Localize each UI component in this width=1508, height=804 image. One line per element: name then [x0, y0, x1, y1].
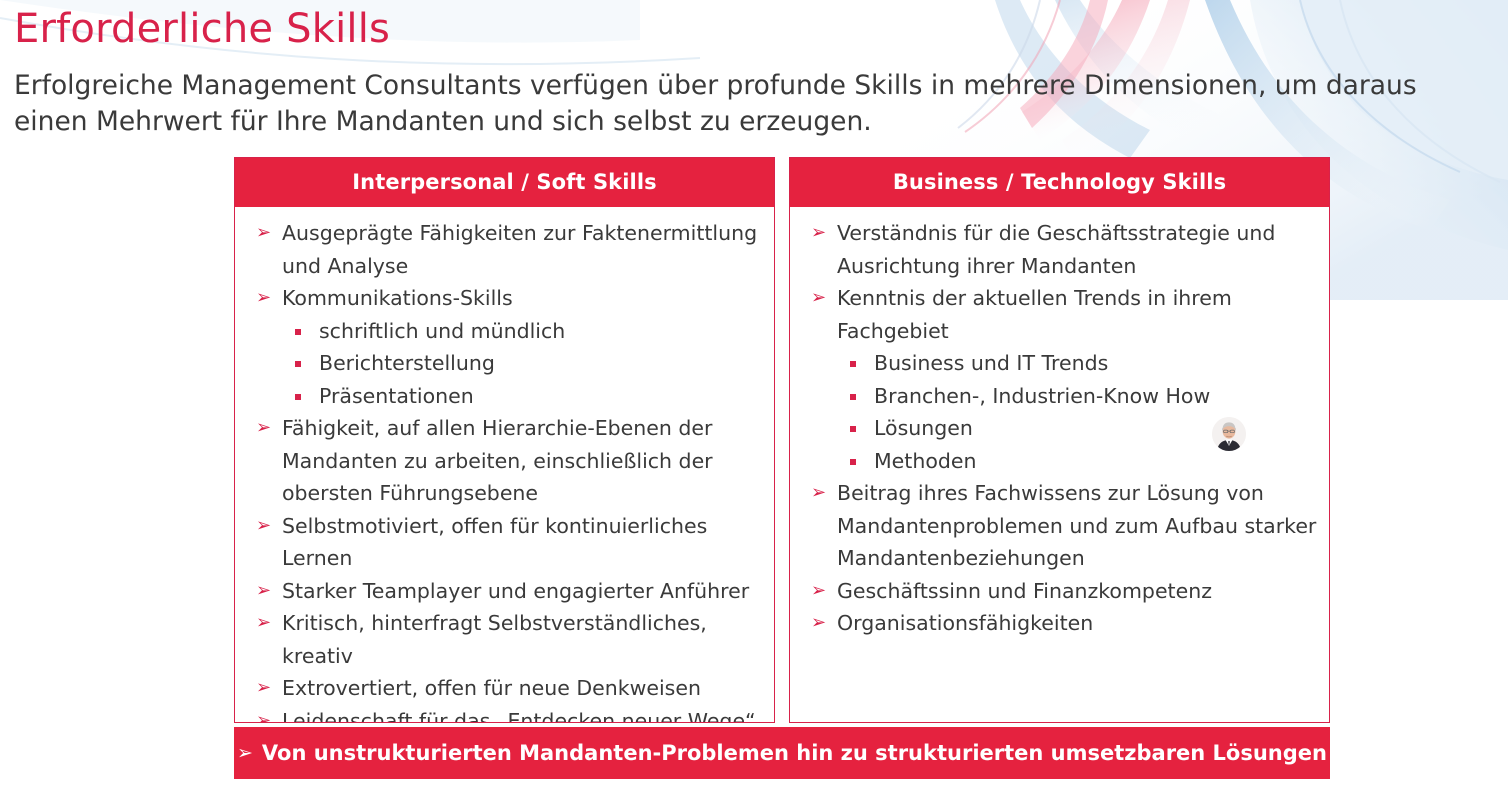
square-bullet-icon: [850, 394, 856, 400]
panel-business-technology-skills: Business / Technology Skills ➢Verständni…: [789, 157, 1330, 723]
page-title: Erforderliche Skills: [14, 6, 390, 52]
list-item: ➢Kritisch, hinterfragt Selbstverständlic…: [247, 607, 762, 672]
list-item-label: Lösungen: [874, 416, 973, 440]
panel-body-soft-skills: ➢Ausgeprägte Fähigkeiten zur Faktenermit…: [235, 207, 774, 722]
list-item-label: Kommunikations-Skills: [282, 286, 513, 310]
list-item: Business und IT Trends: [802, 347, 1317, 380]
list-item: ➢Kenntnis der aktuellen Trends in ihrem …: [802, 282, 1317, 347]
list-item-label: Kenntnis der aktuellen Trends in ihrem F…: [837, 286, 1232, 343]
list-item-label: Geschäftssinn und Finanzkompetenz: [837, 579, 1212, 603]
list-item: ➢Kommunikations-Skills: [247, 282, 762, 315]
arrow-bullet-icon: ➢: [256, 607, 271, 640]
list-item-label: Leidenschaft für das „Entdecken neuer We…: [282, 709, 756, 723]
list-item: Berichterstellung: [247, 347, 762, 380]
list-item: ➢Beitrag ihres Fachwissens zur Lösung vo…: [802, 477, 1317, 575]
arrow-bullet-icon: ➢: [256, 217, 271, 250]
list-item: Branchen-, Industrien-Know How: [802, 380, 1317, 413]
skills-panels: Interpersonal / Soft Skills ➢Ausgeprägte…: [234, 157, 1330, 723]
list-item: ➢Starker Teamplayer und engagierter Anfü…: [247, 575, 762, 608]
panel-header-business-technology-skills: Business / Technology Skills: [790, 158, 1329, 207]
arrow-bullet-icon: ➢: [256, 510, 271, 543]
arrow-bullet-icon: ➢: [256, 705, 271, 723]
panel-header-soft-skills: Interpersonal / Soft Skills: [235, 158, 774, 207]
list-item-label: Starker Teamplayer und engagierter Anfüh…: [282, 579, 749, 603]
arrow-bullet-icon: ➢: [256, 672, 271, 705]
list-item: ➢Geschäftssinn und Finanzkompetenz: [802, 575, 1317, 608]
list-item-label: Ausgeprägte Fähigkeiten zur Faktenermitt…: [282, 221, 757, 278]
arrow-bullet-icon: ➢: [811, 282, 826, 315]
arrow-bullet-icon: ➢: [256, 575, 271, 608]
list-item: Präsentationen: [247, 380, 762, 413]
square-bullet-icon: [295, 361, 301, 367]
list-item-label: Methoden: [874, 449, 977, 473]
bottom-banner-text: Von unstrukturierten Mandanten-Problemen…: [262, 741, 1327, 765]
bottom-banner: ➢ Von unstrukturierten Mandanten-Problem…: [234, 727, 1330, 779]
square-bullet-icon: [850, 459, 856, 465]
list-item-label: Berichterstellung: [319, 351, 495, 375]
square-bullet-icon: [850, 426, 856, 432]
soft-skills-list: ➢Ausgeprägte Fähigkeiten zur Faktenermit…: [247, 217, 762, 722]
arrow-bullet-icon: ➢: [256, 412, 271, 445]
list-item: ➢Extrovertiert, offen für neue Denkweise…: [247, 672, 762, 705]
list-item: schriftlich und mündlich: [247, 315, 762, 348]
arrow-bullet-icon: ➢: [811, 575, 826, 608]
list-item-label: Fähigkeit, auf allen Hierarchie-Ebenen d…: [282, 416, 713, 505]
panel-soft-skills: Interpersonal / Soft Skills ➢Ausgeprägte…: [234, 157, 775, 723]
arrow-bullet-icon: ➢: [237, 742, 253, 764]
list-item-label: Beitrag ihres Fachwissens zur Lösung von…: [837, 481, 1316, 570]
panel-body-business-technology-skills: ➢Verständnis für die Geschäftsstrategie …: [790, 207, 1329, 722]
page-subtitle: Erfolgreiche Management Consultants verf…: [14, 68, 1494, 140]
list-item-label: Kritisch, hinterfragt Selbstverständlich…: [282, 611, 707, 668]
list-item-label: Extrovertiert, offen für neue Denkweisen: [282, 676, 701, 700]
list-item-label: Präsentationen: [319, 384, 474, 408]
list-item: ➢Verständnis für die Geschäftsstrategie …: [802, 217, 1317, 282]
square-bullet-icon: [295, 329, 301, 335]
list-item: Methoden: [802, 445, 1317, 478]
list-item-label: Selbstmotiviert, offen für kontinuierlic…: [282, 514, 707, 571]
square-bullet-icon: [295, 394, 301, 400]
list-item-label: Branchen-, Industrien-Know How: [874, 384, 1210, 408]
list-item-label: Business und IT Trends: [874, 351, 1108, 375]
list-item: ➢Leidenschaft für das „Entdecken neuer W…: [247, 705, 762, 723]
avatar: [1212, 417, 1246, 451]
list-item-label: Organisationsfähigkeiten: [837, 611, 1093, 635]
arrow-bullet-icon: ➢: [256, 282, 271, 315]
list-item: ➢Ausgeprägte Fähigkeiten zur Faktenermit…: [247, 217, 762, 282]
arrow-bullet-icon: ➢: [811, 477, 826, 510]
arrow-bullet-icon: ➢: [811, 607, 826, 640]
list-item: ➢Organisationsfähigkeiten: [802, 607, 1317, 640]
list-item-label: Verständnis für die Geschäftsstrategie u…: [837, 221, 1275, 278]
list-item: ➢Selbstmotiviert, offen für kontinuierli…: [247, 510, 762, 575]
list-item: ➢Fähigkeit, auf allen Hierarchie-Ebenen …: [247, 412, 762, 510]
arrow-bullet-icon: ➢: [811, 217, 826, 250]
list-item-label: schriftlich und mündlich: [319, 319, 565, 343]
square-bullet-icon: [850, 361, 856, 367]
